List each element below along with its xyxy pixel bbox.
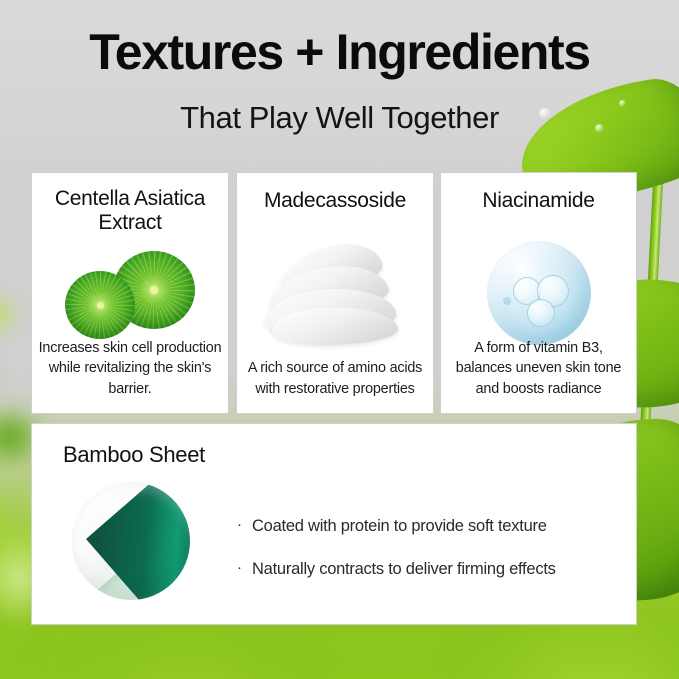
inner-bubble xyxy=(503,297,511,305)
card-title: Niacinamide xyxy=(447,189,630,213)
page-subtitle: That Play Well Together xyxy=(0,102,679,133)
page-title: Textures + Ingredients xyxy=(0,27,679,77)
leaf-core xyxy=(150,286,158,294)
card-title: Madecassoside xyxy=(243,189,427,213)
card-description: A rich source of amino acids with restor… xyxy=(242,358,428,399)
pennywort-leaves-icon xyxy=(32,249,228,349)
card-description: Increases skin cell production while rev… xyxy=(37,338,223,399)
cream-swatch-icon xyxy=(237,245,433,351)
ingredient-card-niacinamide[interactable]: Niacinamide A form of vitamin B3, balanc… xyxy=(440,172,637,414)
card-description: A form of vitamin B3, balances uneven sk… xyxy=(446,338,631,399)
bamboo-card-title: Bamboo Sheet xyxy=(63,442,205,468)
bullet-marker: · xyxy=(237,559,242,577)
bamboo-bullet-list: · Coated with protein to provide soft te… xyxy=(237,516,606,601)
leaf-core xyxy=(97,302,104,309)
ingredient-card-madecassoside[interactable]: Madecassoside A rich source of amino aci… xyxy=(236,172,434,414)
inner-bubble xyxy=(527,299,555,327)
gel-droplet-icon xyxy=(441,241,636,349)
card-title: Centella Asiatica Extract xyxy=(38,187,222,234)
leaf-small xyxy=(65,271,135,339)
bullet-marker: · xyxy=(237,516,242,534)
bamboo-sheet-swatch-icon xyxy=(72,482,190,600)
bullet-text: Naturally contracts to deliver firming e… xyxy=(252,559,556,580)
bullet-text: Coated with protein to provide soft text… xyxy=(252,516,547,537)
list-item: · Naturally contracts to deliver firming… xyxy=(237,559,606,580)
list-item: · Coated with protein to provide soft te… xyxy=(237,516,606,537)
bamboo-sheet-card[interactable]: Bamboo Sheet · Coated with protein to pr… xyxy=(31,423,637,625)
ingredient-card-centella[interactable]: Centella Asiatica Extract Increases skin… xyxy=(31,172,229,414)
bamboo-shading xyxy=(72,482,190,600)
infographic-page: Textures + Ingredients That Play Well To… xyxy=(0,0,679,679)
